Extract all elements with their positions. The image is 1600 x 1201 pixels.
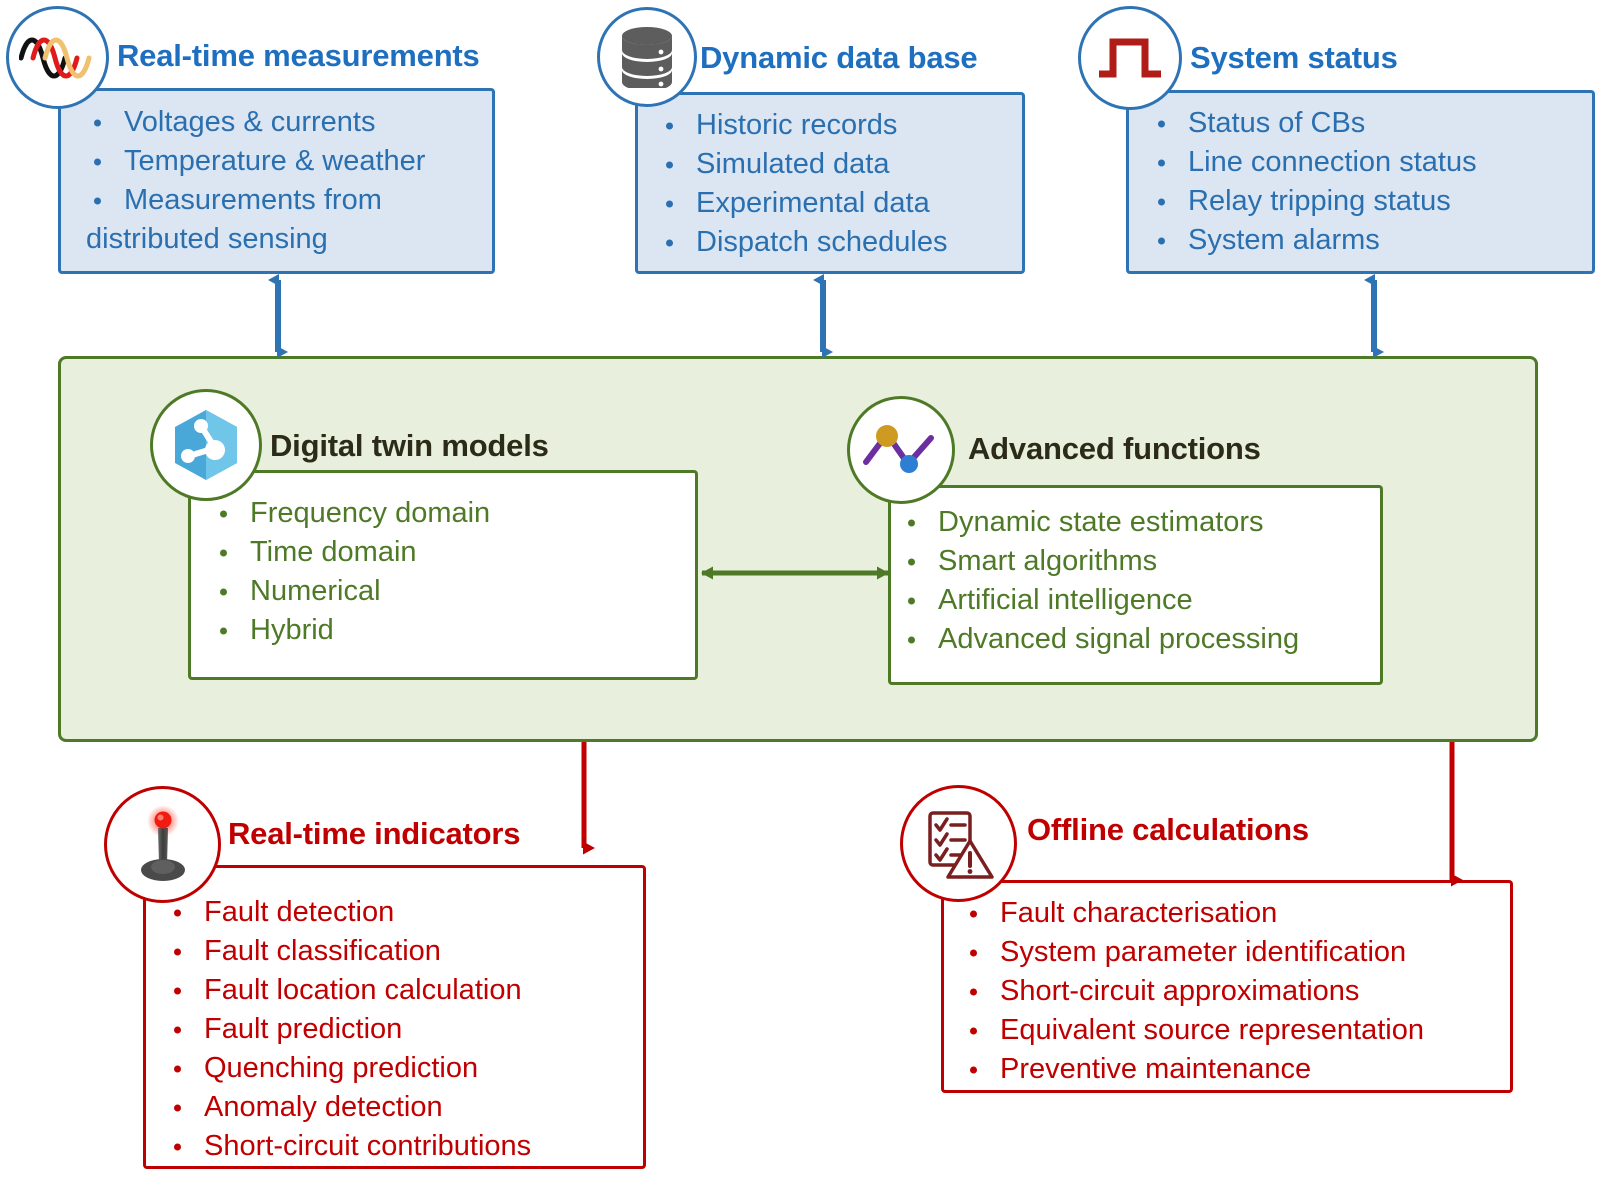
signal-nodes-glyph <box>861 422 941 478</box>
bullet-dot <box>1158 159 1165 166</box>
list-item: Fault characterisation <box>962 894 1424 933</box>
list-item: Short-circuit contributions <box>166 1127 531 1166</box>
list-item: System alarms <box>1150 221 1477 260</box>
list-item: Simulated data <box>658 145 947 184</box>
bullet-dot <box>94 197 101 204</box>
title-offline-calculations: Offline calculations <box>1027 812 1309 848</box>
bullet-dot <box>908 597 915 604</box>
three-phase-waveform-glyph <box>19 30 97 86</box>
bullet-dot <box>908 636 915 643</box>
database-icon <box>597 7 697 107</box>
bullet-dot <box>666 239 673 246</box>
bullet-dot <box>174 1143 181 1150</box>
diagram-canvas: Real-time measurements Voltages & curren… <box>0 0 1600 1201</box>
list-item: Fault detection <box>166 893 531 932</box>
bullet-dot <box>174 987 181 994</box>
bullet-dot <box>970 1027 977 1034</box>
checklist-warning-glyph <box>922 807 996 881</box>
title-digital-twin-models: Digital twin models <box>270 428 549 464</box>
bullet-dot <box>1158 237 1165 244</box>
list-item: Fault prediction <box>166 1010 531 1049</box>
list-item: Dynamic state estimators <box>900 503 1299 542</box>
bullet-dot <box>174 1026 181 1033</box>
bullet-dot <box>1158 198 1165 205</box>
three-phase-waveform-icon <box>6 6 109 109</box>
title-system-status: System status <box>1190 40 1398 76</box>
list-item: Measurements from <box>86 181 425 220</box>
list-system-status: Status of CBs Line connection status Rel… <box>1150 104 1477 260</box>
list-item: Numerical <box>212 572 490 611</box>
list-item: Fault classification <box>166 932 531 971</box>
list-item: Advanced signal processing <box>900 620 1299 659</box>
bullet-dot <box>908 519 915 526</box>
list-item: Quenching prediction <box>166 1049 531 1088</box>
bullet-dot <box>970 949 977 956</box>
bullet-dot <box>220 588 227 595</box>
list-item: Preventive maintenance <box>962 1050 1424 1089</box>
digital-twin-hexagon-glyph <box>167 406 245 484</box>
bullet-dot <box>220 510 227 517</box>
bullet-dot <box>970 1066 977 1073</box>
list-item: Temperature & weather <box>86 142 425 181</box>
square-pulse-glyph <box>1097 34 1163 82</box>
bullet-dot <box>908 558 915 565</box>
list-item: Historic records <box>658 106 947 145</box>
list-item: Artificial intelligence <box>900 581 1299 620</box>
bullet-dot <box>970 988 977 995</box>
bullet-dot <box>220 549 227 556</box>
list-item: Frequency domain <box>212 494 490 533</box>
checklist-warning-icon <box>900 785 1017 902</box>
signal-nodes-icon <box>847 396 955 504</box>
list-real-time-indicators: Fault detection Fault classification Fau… <box>166 893 531 1166</box>
title-dynamic-data-base: Dynamic data base <box>700 40 977 76</box>
list-item: Voltages & currents <box>86 103 425 142</box>
warning-beacon-icon <box>104 786 221 903</box>
bullet-dot <box>174 1104 181 1111</box>
list-item: Short-circuit approximations <box>962 972 1424 1011</box>
database-glyph <box>618 26 676 88</box>
bullet-dot <box>94 158 101 165</box>
warning-beacon-glyph <box>130 806 196 884</box>
list-item: System parameter identification <box>962 933 1424 972</box>
digital-twin-hexagon-icon <box>150 389 262 501</box>
list-item: Hybrid <box>212 611 490 650</box>
list-item: Relay tripping status <box>1150 182 1477 221</box>
list-item: Dispatch schedules <box>658 223 947 262</box>
title-advanced-functions: Advanced functions <box>968 431 1261 467</box>
list-dynamic-data-base: Historic records Simulated data Experime… <box>658 106 947 262</box>
square-pulse-icon <box>1078 6 1182 110</box>
bullet-dot <box>1158 120 1165 127</box>
list-item: Equivalent source representation <box>962 1011 1424 1050</box>
bullet-dot <box>970 910 977 917</box>
list-digital-twin-models: Frequency domain Time domain Numerical H… <box>212 494 490 650</box>
bullet-dot <box>666 122 673 129</box>
list-item: Smart algorithms <box>900 542 1299 581</box>
bullet-dot <box>174 948 181 955</box>
bullet-dot <box>174 1065 181 1072</box>
list-item-continuation: distributed sensing <box>86 220 425 259</box>
list-item: Anomaly detection <box>166 1088 531 1127</box>
bullet-dot <box>666 161 673 168</box>
list-item: Time domain <box>212 533 490 572</box>
title-real-time-measurements: Real-time measurements <box>117 38 480 74</box>
bullet-dot <box>220 627 227 634</box>
bullet-dot <box>94 119 101 126</box>
list-item: Line connection status <box>1150 143 1477 182</box>
list-offline-calculations: Fault characterisation System parameter … <box>962 894 1424 1089</box>
bullet-dot <box>174 909 181 916</box>
bullet-dot <box>666 200 673 207</box>
title-real-time-indicators: Real-time indicators <box>228 816 520 852</box>
list-item: Status of CBs <box>1150 104 1477 143</box>
list-advanced-functions: Dynamic state estimators Smart algorithm… <box>900 503 1299 659</box>
list-item: Experimental data <box>658 184 947 223</box>
list-item: Fault location calculation <box>166 971 531 1010</box>
list-real-time-measurements: Voltages & currents Temperature & weathe… <box>86 103 425 259</box>
